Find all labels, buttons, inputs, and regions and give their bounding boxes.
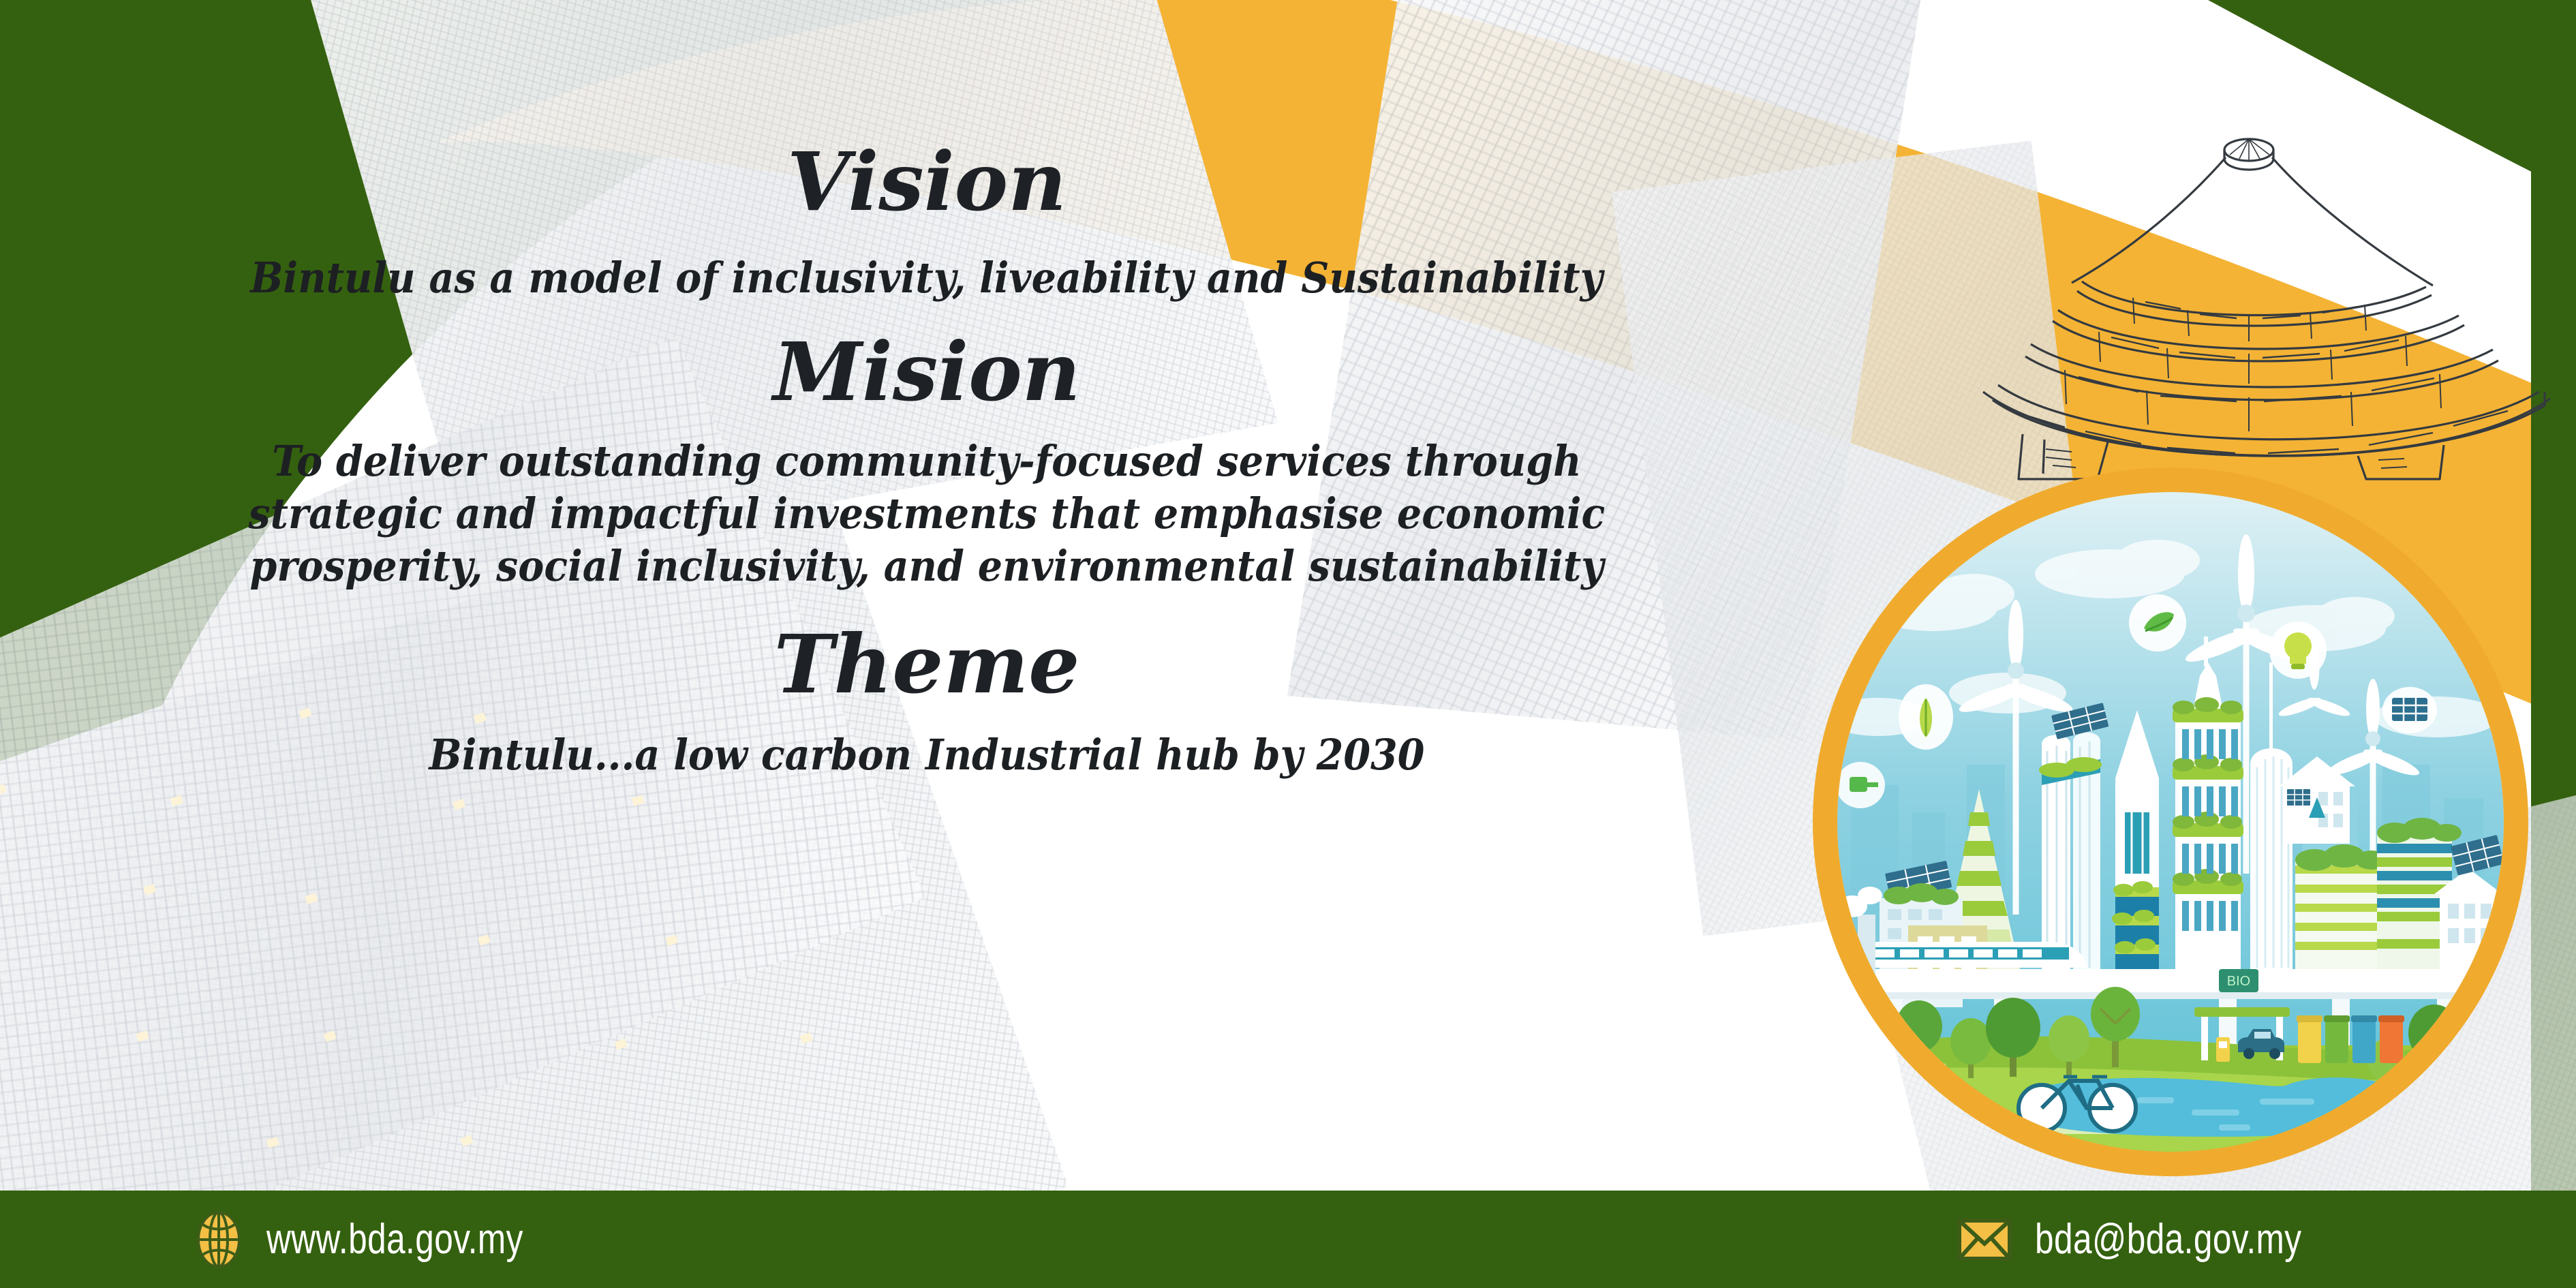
monument-line-art	[1963, 119, 2576, 480]
photo-orange-ring	[1813, 467, 2528, 1176]
email-label: bda@bda.gov.my	[2035, 1215, 2301, 1263]
envelope-icon	[1957, 1218, 2012, 1261]
poster-canvas: BIO	[0, 0, 2576, 1288]
footer-bar: www.bda.gov.my bda@bda.gov.my	[0, 1191, 2576, 1288]
footer-website[interactable]: www.bda.gov.my	[194, 1210, 587, 1269]
footer-email[interactable]: bda@bda.gov.my	[1957, 1215, 2368, 1263]
eco-city-photo: BIO	[1813, 467, 2528, 1176]
website-label: www.bda.gov.my	[266, 1215, 523, 1263]
globe-icon	[194, 1210, 243, 1269]
